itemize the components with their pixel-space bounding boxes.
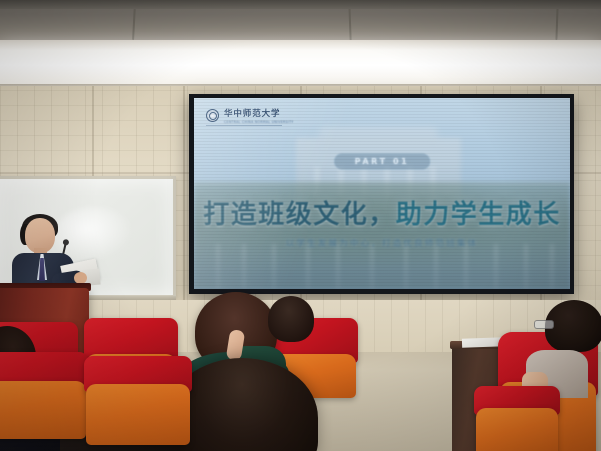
lecture-seat[interactable] bbox=[84, 356, 192, 442]
projection-screen-frame: 华中师范大学 CENTRAL CHINA NORMAL UNIVERSITY P… bbox=[189, 94, 574, 294]
ceiling-light-strip bbox=[0, 40, 601, 86]
glasses-icon bbox=[534, 320, 554, 329]
ceiling-wire bbox=[348, 2, 351, 42]
ceiling-wire bbox=[555, 6, 558, 40]
attendee-hair bbox=[268, 296, 314, 342]
ceiling-wire bbox=[132, 4, 136, 40]
lecture-hall-photo: 华中师范大学 CENTRAL CHINA NORMAL UNIVERSITY P… bbox=[0, 0, 601, 451]
ceiling-panel bbox=[0, 0, 601, 42]
projection-screen[interactable]: 华中师范大学 CENTRAL CHINA NORMAL UNIVERSITY P… bbox=[194, 98, 570, 289]
screen-scanlines bbox=[194, 98, 570, 289]
lecture-seat[interactable] bbox=[0, 352, 88, 436]
lecture-seat[interactable] bbox=[474, 386, 560, 451]
